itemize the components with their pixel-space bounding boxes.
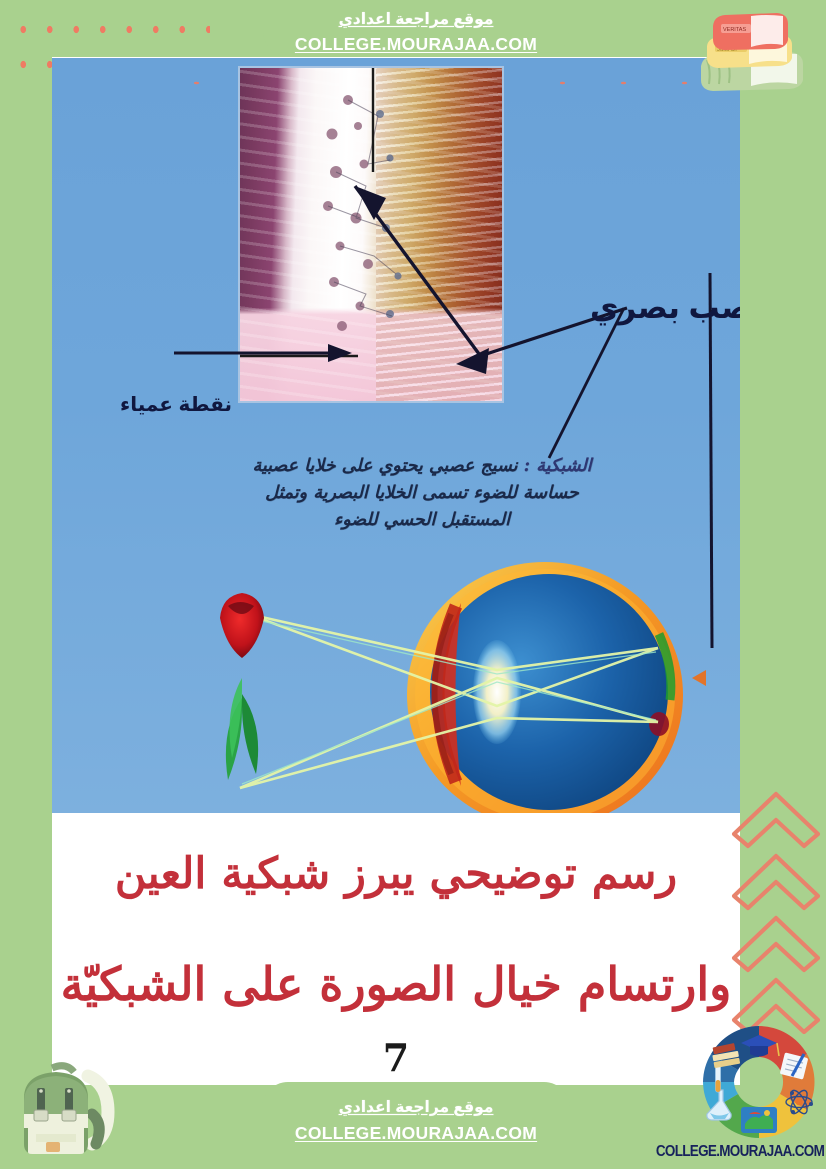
backpack-icon	[12, 1058, 120, 1162]
banner-url-bottom[interactable]: COLLEGE.MOURAJAA.COM	[262, 1125, 570, 1143]
caption-line-1: رسم توضيحي يبرز شبكية العين	[52, 849, 740, 899]
figure-panel: عصب بصري نقطة عمياء الشبكية : نسيج عصبي …	[52, 58, 740, 813]
svg-text:VERITAS: VERITAS	[723, 27, 746, 33]
page-root: عصب بصري نقطة عمياء الشبكية : نسيج عصبي …	[0, 0, 826, 1169]
banner-arabic-title-top: موقع مراجعة اعدادي	[263, 12, 569, 28]
page-number: 7	[52, 1035, 740, 1080]
banner-arabic-title-bottom: موقع مراجعة اعدادي	[262, 1100, 570, 1116]
banner-url-top[interactable]: COLLEGE.MOURAJAA.COM	[263, 36, 569, 54]
education-wheel-icon	[698, 1022, 820, 1142]
caption-area: رسم توضيحي يبرز شبكية العين وارتسام خيال…	[52, 813, 740, 1085]
books-stack-icon: Julio Di VERITAS	[693, 8, 811, 96]
footer-watermark: COLLEGE.MOURAJAA.COM	[655, 1142, 825, 1160]
bottom-site-banner[interactable]: موقع مراجعة اعدادي COLLEGE.MOURAJAA.COM	[262, 1082, 570, 1148]
globe-icon	[741, 1107, 777, 1133]
eye-ray-diagram-icon	[52, 58, 740, 813]
left-green-rail	[0, 0, 52, 1169]
test-tube-icon	[716, 1064, 721, 1092]
caption-line-2: وارتسام خيال الصورة على الشبكيّة	[52, 957, 740, 1011]
chevron-up-decoration-icon	[726, 788, 826, 1034]
top-site-banner[interactable]: موقع مراجعة اعدادي COLLEGE.MOURAJAA.COM	[263, 0, 569, 57]
